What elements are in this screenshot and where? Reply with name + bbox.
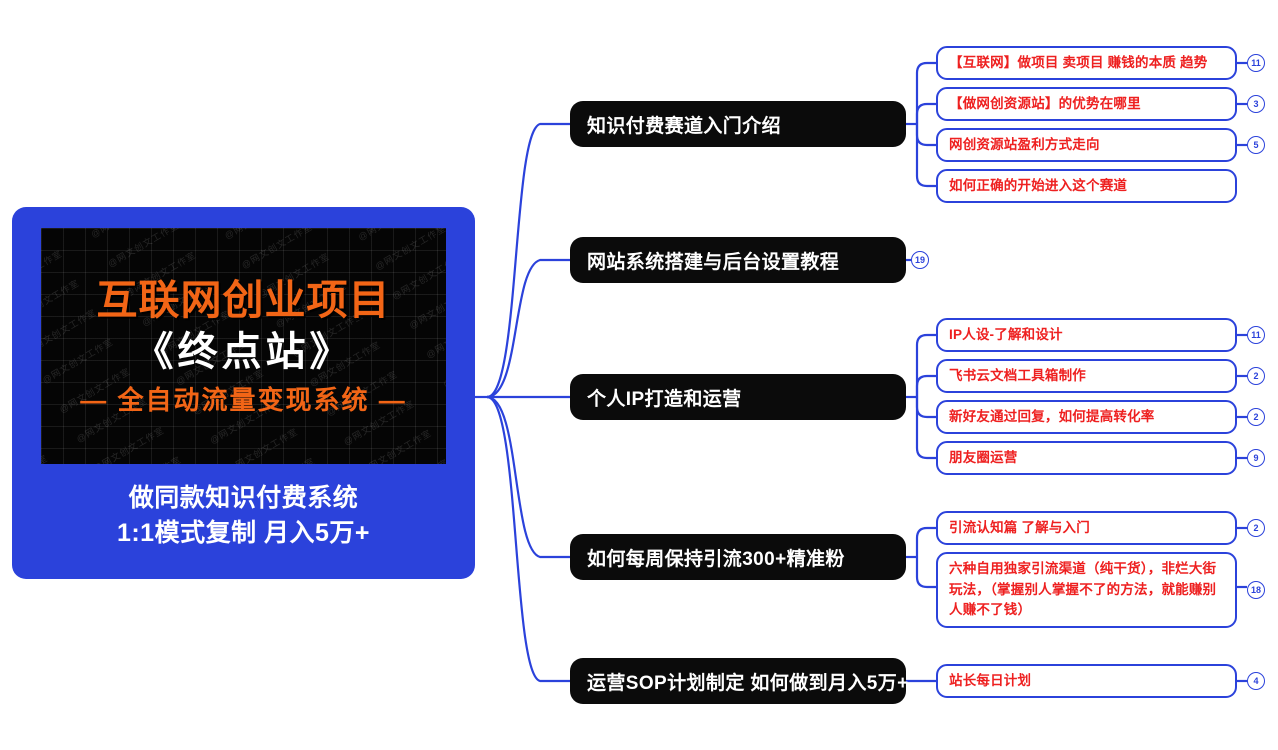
badge-3-1-count: 11	[1251, 331, 1261, 340]
sub-node-1-1-label: 【互联网】做项目 卖项目 赚钱的本质 趋势	[949, 53, 1207, 74]
main-node-1-label: 知识付费赛道入门介绍	[587, 111, 781, 138]
root-poster-image: @网文创文工作室@网文创文工作室@网文创文工作室@网文创文工作室@网文创文工作室…	[41, 228, 446, 464]
badge-1-3: 5	[1247, 136, 1265, 154]
sub-node-3-1[interactable]: IP人设-了解和设计	[936, 318, 1237, 352]
root-caption: 做同款知识付费系统 1:1模式复制 月入5万+	[117, 481, 370, 550]
badge-5-1: 4	[1247, 672, 1265, 690]
main-node-3[interactable]: 个人IP打造和运营	[570, 374, 906, 420]
root-node[interactable]: @网文创文工作室@网文创文工作室@网文创文工作室@网文创文工作室@网文创文工作室…	[12, 207, 475, 579]
root-caption-line1: 做同款知识付费系统	[117, 481, 370, 516]
sub-node-5-1[interactable]: 站长每日计划	[936, 664, 1237, 698]
main-node-4-label: 如何每周保持引流300+精准粉	[587, 544, 845, 571]
sub-node-1-2[interactable]: 【做网创资源站】的优势在哪里	[936, 87, 1237, 121]
poster-title-line2: 《终点站》	[134, 332, 354, 372]
sub-node-3-4[interactable]: 朋友圈运营	[936, 441, 1237, 475]
badge-4-2: 18	[1247, 581, 1265, 599]
sub-node-3-2[interactable]: 飞书云文档工具箱制作	[936, 359, 1237, 393]
sub-node-5-1-label: 站长每日计划	[949, 671, 1031, 692]
sub-node-3-2-label: 飞书云文档工具箱制作	[949, 366, 1086, 387]
root-caption-line2: 1:1模式复制 月入5万+	[117, 516, 370, 551]
badge-4-1: 2	[1247, 519, 1265, 537]
sub-node-3-4-label: 朋友圈运营	[949, 448, 1018, 469]
main-node-2[interactable]: 网站系统搭建与后台设置教程	[570, 237, 906, 283]
badge-2: 19	[911, 251, 929, 269]
sub-node-3-3[interactable]: 新好友通过回复，如何提高转化率	[936, 400, 1237, 434]
badge-3-2: 2	[1247, 367, 1265, 385]
badge-3-3: 2	[1247, 408, 1265, 426]
sub-node-1-2-label: 【做网创资源站】的优势在哪里	[949, 94, 1141, 115]
main-node-3-label: 个人IP打造和运营	[587, 384, 742, 411]
badge-4-1-count: 2	[1253, 524, 1258, 533]
sub-node-4-2-label: 六种自用独家引流渠道（纯干货），非烂大街玩法，（掌握别人掌握不了的方法，就能赚别…	[949, 559, 1225, 622]
sub-node-1-3[interactable]: 网创资源站盈利方式走向	[936, 128, 1237, 162]
main-node-5[interactable]: 运营SOP计划制定 如何做到月入5万+	[570, 658, 906, 704]
badge-3-2-count: 2	[1253, 372, 1258, 381]
badge-1-2: 3	[1247, 95, 1265, 113]
badge-1-1-count: 11	[1251, 59, 1261, 68]
main-node-4[interactable]: 如何每周保持引流300+精准粉	[570, 534, 906, 580]
sub-node-1-4-label: 如何正确的开始进入这个赛道	[949, 176, 1127, 197]
sub-node-3-1-label: IP人设-了解和设计	[949, 325, 1063, 346]
poster-title-line1: 互联网创业项目	[97, 280, 391, 321]
sub-node-1-3-label: 网创资源站盈利方式走向	[949, 135, 1100, 156]
badge-1-2-count: 3	[1253, 100, 1258, 109]
badge-1-1: 11	[1247, 54, 1265, 72]
badge-2-count: 19	[915, 256, 925, 265]
badge-5-1-count: 4	[1253, 677, 1258, 686]
badge-4-2-count: 18	[1251, 586, 1261, 595]
sub-node-4-2[interactable]: 六种自用独家引流渠道（纯干货），非烂大街玩法，（掌握别人掌握不了的方法，就能赚别…	[936, 552, 1237, 628]
main-node-5-label: 运营SOP计划制定 如何做到月入5万+	[587, 668, 909, 695]
poster-title-line3: — 全自动流量变现系统 —	[80, 387, 406, 413]
badge-3-4: 9	[1247, 449, 1265, 467]
sub-node-4-1-label: 引流认知篇 了解与入门	[949, 518, 1090, 539]
main-node-2-label: 网站系统搭建与后台设置教程	[587, 247, 839, 274]
badge-3-4-count: 9	[1253, 454, 1258, 463]
sub-node-3-3-label: 新好友通过回复，如何提高转化率	[949, 407, 1155, 428]
sub-node-1-4[interactable]: 如何正确的开始进入这个赛道	[936, 169, 1237, 203]
sub-node-1-1[interactable]: 【互联网】做项目 卖项目 赚钱的本质 趋势	[936, 46, 1237, 80]
badge-3-3-count: 2	[1253, 413, 1258, 422]
badge-1-3-count: 5	[1253, 141, 1258, 150]
badge-3-1: 11	[1247, 326, 1265, 344]
main-node-1[interactable]: 知识付费赛道入门介绍	[570, 101, 906, 147]
sub-node-4-1[interactable]: 引流认知篇 了解与入门	[936, 511, 1237, 545]
mindmap-canvas: @网文创文工作室@网文创文工作室@网文创文工作室@网文创文工作室@网文创文工作室…	[0, 0, 1278, 750]
